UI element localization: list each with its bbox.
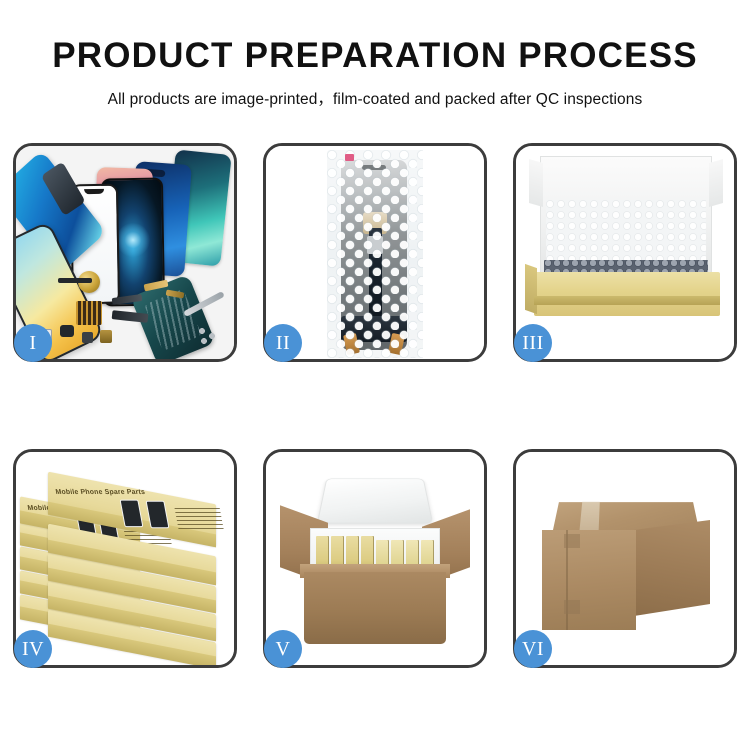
phone-lineup-graphic [16, 146, 234, 359]
step-panel-ii[interactable]: II [263, 143, 487, 362]
antenna-strip-icon [58, 278, 92, 283]
bubble-wrap-bag-graphic [327, 150, 423, 358]
step-image-i [16, 146, 234, 359]
product-preparation-infographic: PRODUCT PREPARATION PROCESS All products… [0, 0, 750, 750]
step-panel-i[interactable]: I [13, 143, 237, 362]
step-badge-vi: VI [514, 630, 552, 668]
step-panel-iii[interactable]: III [513, 143, 737, 362]
box-stack-graphic: Mobile Phone Spare Parts Mobile Phone Sp… [20, 466, 230, 656]
gold-part-icon [100, 330, 112, 343]
carton-tab-icon [564, 600, 580, 614]
speaker-module-icon [60, 325, 74, 337]
step-image-iii [516, 146, 734, 359]
step-badge-i: I [14, 324, 52, 362]
box-artwork-screen [146, 501, 170, 529]
box-label-text: Mobile Phone Spare Parts [55, 489, 146, 496]
step-panel-iv[interactable]: Mobile Phone Spare Parts Mobile Phone Sp… [13, 449, 237, 668]
step-image-v [266, 452, 484, 665]
steps-grid: I II [13, 143, 737, 668]
carton-tab-icon [564, 534, 580, 548]
step-badge-iv: IV [14, 630, 52, 668]
yellow-box-tray-icon [534, 272, 720, 316]
step-image-ii [266, 146, 484, 359]
box-front-edge-icon [534, 296, 720, 305]
step-badge-iii: III [514, 324, 552, 362]
bubble-texture-overlay [327, 150, 423, 358]
foam-lid-icon [317, 479, 433, 524]
step-image-vi [516, 452, 734, 665]
screws-icon [198, 327, 220, 345]
screw-plate-icon [76, 301, 102, 325]
carton-front-face [542, 530, 636, 630]
box-spec-lines [174, 507, 223, 529]
carton-body-icon [304, 572, 446, 644]
sealed-carton-graphic [542, 482, 710, 632]
step-panel-vi[interactable]: VI [513, 449, 737, 668]
page-subtitle: All products are image-printed，film-coat… [0, 87, 750, 109]
step-badge-ii: II [264, 324, 302, 362]
step-image-iv: Mobile Phone Spare Parts Mobile Phone Sp… [16, 452, 234, 665]
qc-sticker-icon [345, 154, 354, 161]
carton-side-face [634, 520, 710, 616]
box-artwork-screen [120, 500, 144, 528]
step-badge-v: V [264, 630, 302, 668]
page-title: PRODUCT PREPARATION PROCESS [0, 38, 750, 73]
step-panel-v[interactable]: V [263, 449, 487, 668]
small-part-icon [82, 332, 93, 343]
header: PRODUCT PREPARATION PROCESS All products… [0, 0, 750, 109]
